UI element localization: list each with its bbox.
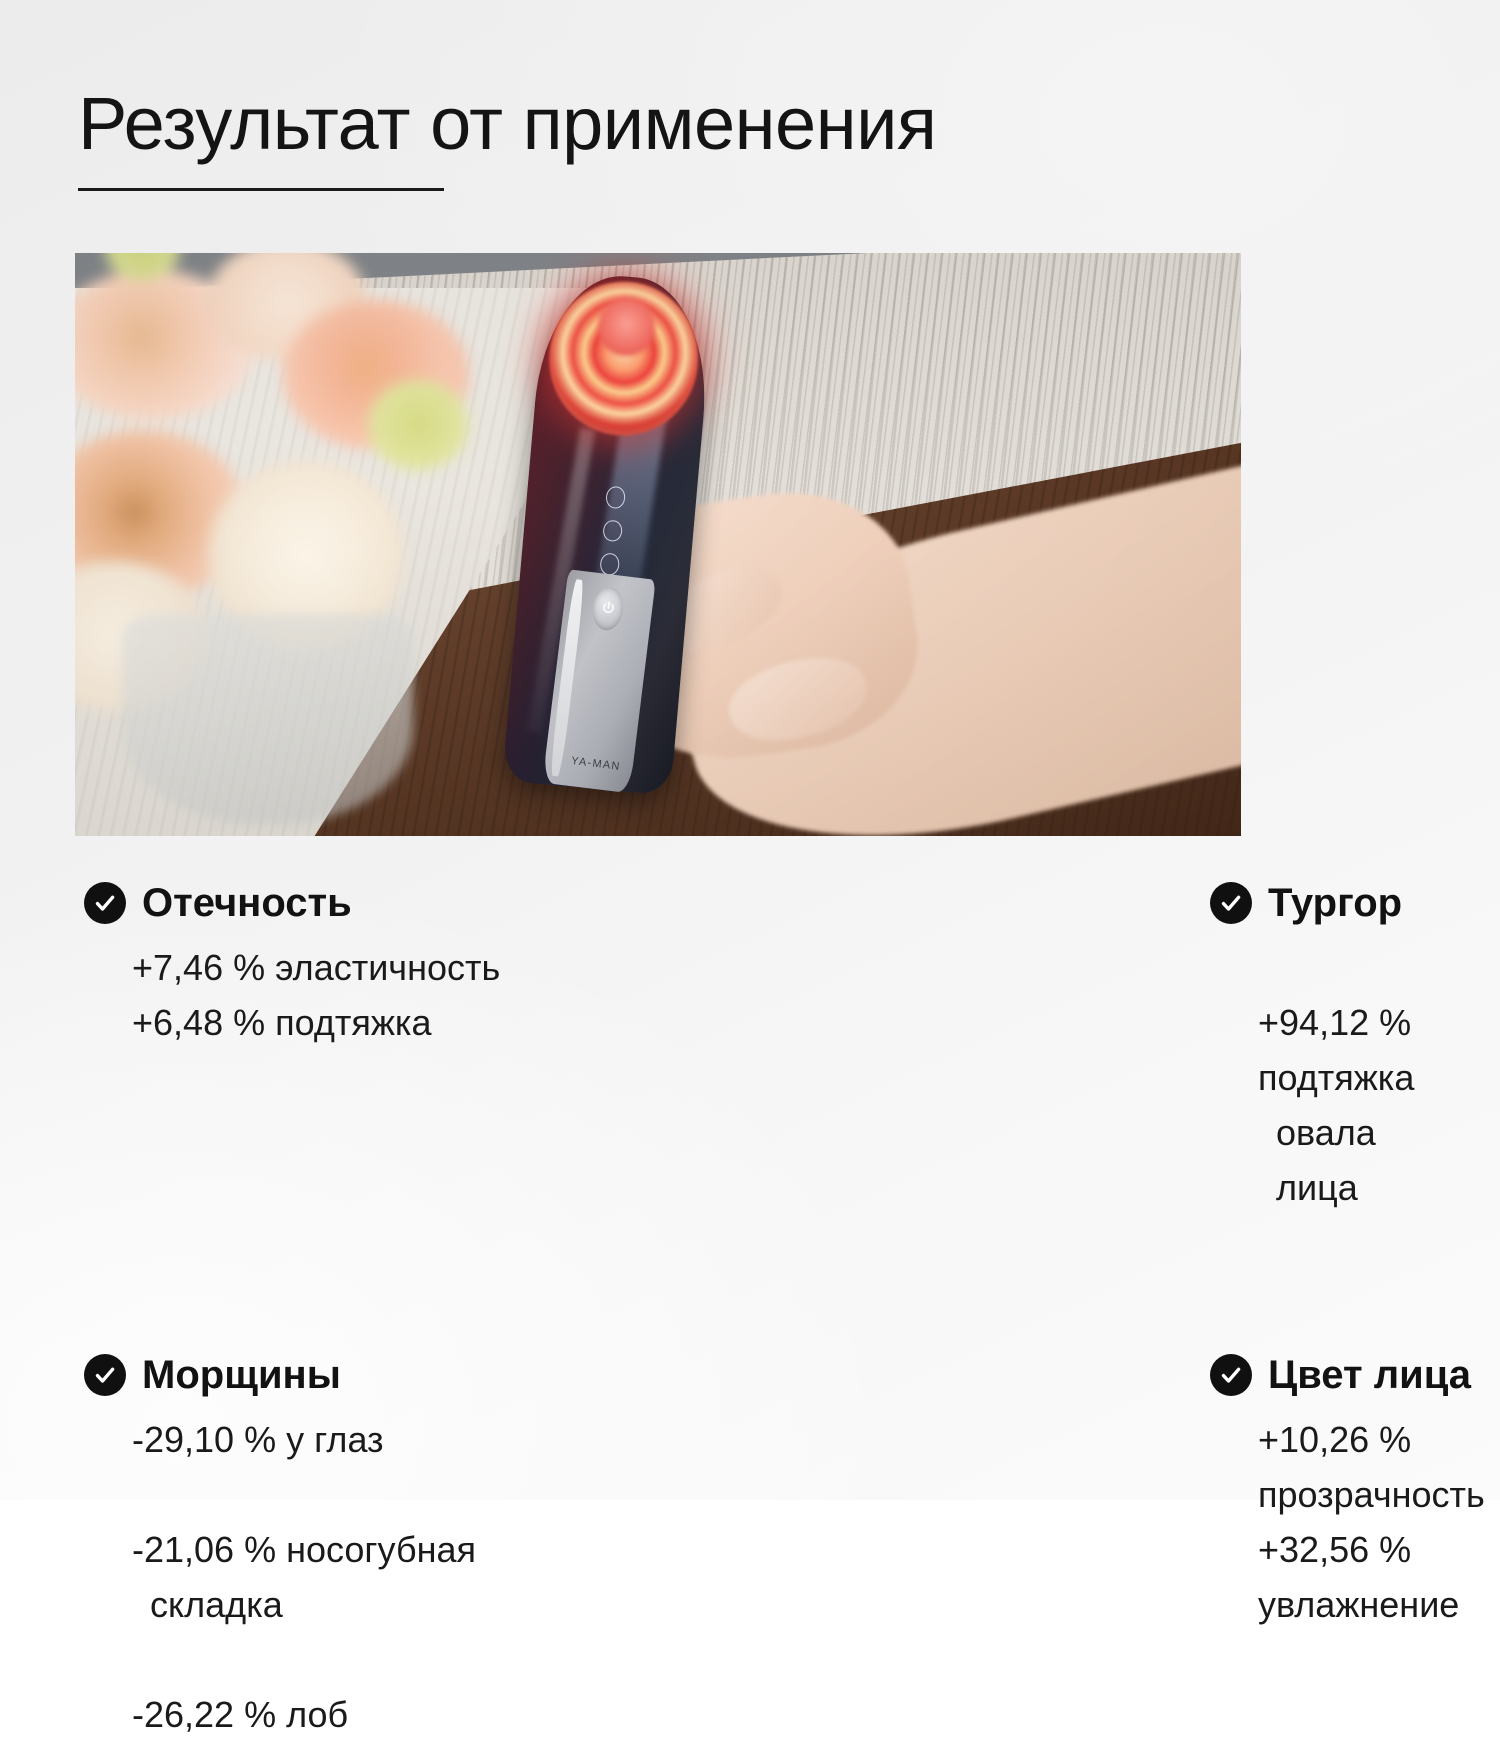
benefit-item: -29,10 % у глаз [132, 1412, 560, 1467]
benefit-block-wrinkles: Морщины -29,10 % у глаз -21,06 % носогуб… [0, 1352, 560, 1742]
led-core [596, 295, 657, 358]
benefit-title: Цвет лица [1268, 1352, 1471, 1398]
row-spacer [0, 1270, 1500, 1352]
benefit-item: +7,46 % эластичность [132, 940, 560, 995]
benefits-row-top: Отечность +7,46 % эластичность +6,48 % п… [0, 880, 1500, 1270]
benefit-item: -26,22 % лоб [132, 1687, 560, 1742]
power-icon [598, 596, 618, 622]
benefit-item-continuation: овала лица [1258, 1105, 1420, 1215]
benefit-heading: Цвет лица [1210, 1352, 1420, 1398]
device-brand: YA-MAN [569, 755, 623, 773]
benefit-item: +10,26 % прозрачность [1258, 1412, 1420, 1522]
benefit-item: +94,12 % подтяжка овала лица [1258, 940, 1420, 1270]
benefit-item-text: +10,26 % прозрачность [1258, 1419, 1485, 1515]
benefit-item: +32,56 % увлажнение [1258, 1522, 1420, 1632]
benefit-item-text: -29,10 % у глаз [132, 1419, 384, 1460]
check-circle-icon [84, 882, 126, 924]
benefit-title: Морщины [142, 1352, 341, 1398]
product-photo: YA-MAN [75, 253, 1241, 836]
result-page: Результат от применения [0, 0, 1500, 1500]
benefit-block-swelling: Отечность +7,46 % эластичность +6,48 % п… [0, 880, 560, 1270]
check-circle-icon [84, 1354, 126, 1396]
check-circle-icon [1210, 1354, 1252, 1396]
benefit-item-text: +7,46 % эластичность [132, 947, 500, 988]
benefit-heading: Отечность [84, 880, 560, 926]
benefit-heading: Морщины [84, 1352, 560, 1398]
check-circle-icon [1210, 882, 1252, 924]
benefit-item-text: +32,56 % увлажнение [1258, 1529, 1459, 1625]
benefit-item: +6,48 % подтяжка [132, 995, 560, 1050]
benefit-item-text: -26,22 % лоб [132, 1694, 348, 1735]
benefits-row-bottom: Морщины -29,10 % у глаз -21,06 % носогуб… [0, 1352, 1500, 1742]
page-header: Результат от применения [78, 82, 1338, 191]
benefit-item-text: +6,48 % подтяжка [132, 1002, 431, 1043]
benefit-items: +10,26 % прозрачность +32,56 % увлажнени… [1210, 1412, 1420, 1632]
benefit-heading: Тургор [1210, 880, 1420, 926]
page-title: Результат от применения [78, 82, 1338, 166]
photo-scene: YA-MAN [75, 253, 1241, 836]
benefit-title: Тургор [1268, 880, 1402, 926]
glass-vase [122, 614, 414, 824]
benefit-item-text: -21,06 % носогубная [132, 1529, 476, 1570]
benefit-item-text: +94,12 % подтяжка [1258, 1002, 1414, 1098]
benefit-items: +7,46 % эластичность +6,48 % подтяжка [84, 940, 560, 1050]
power-button[interactable] [590, 585, 625, 631]
benefits-grid: Отечность +7,46 % эластичность +6,48 % п… [0, 880, 1500, 1742]
benefit-item-continuation: складка [132, 1577, 560, 1632]
benefit-title: Отечность [142, 880, 352, 926]
title-underline [78, 188, 444, 191]
benefit-items: +94,12 % подтяжка овала лица [1210, 940, 1420, 1270]
benefit-items: -29,10 % у глаз -21,06 % носогубная скла… [84, 1412, 560, 1742]
benefit-item: -21,06 % носогубная складка [132, 1467, 560, 1687]
benefit-block-turgor: Тургор +94,12 % подтяжка овала лица [560, 880, 1420, 1270]
benefit-block-complexion: Цвет лица +10,26 % прозрачность +32,56 %… [560, 1352, 1420, 1742]
